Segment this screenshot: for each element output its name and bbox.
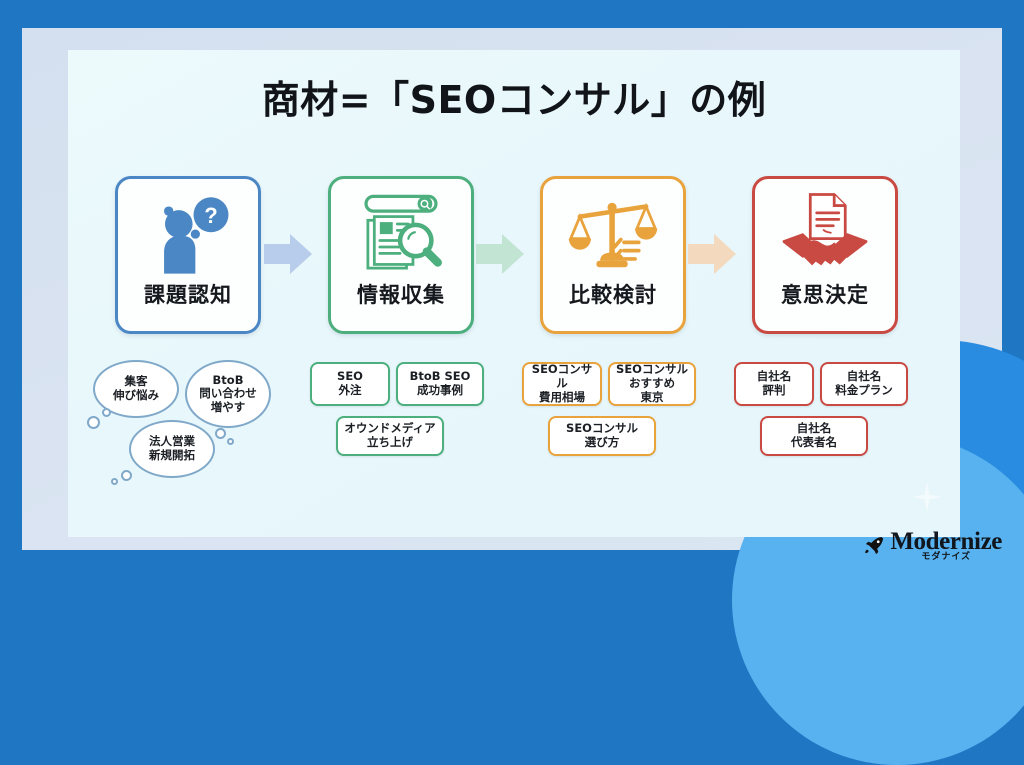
keyword-line: 選び方 [585,436,620,450]
keyword-line: 新規開拓 [149,449,195,463]
brand-logo: Modernize モダナイズ [863,529,1002,562]
keyword-line: 料金プラン [835,384,893,398]
keyword-item[interactable]: 自社名評判 [734,362,814,406]
keyword-line: 費用相場 [539,391,585,405]
keyword-line: SEOコンサル [566,422,638,436]
stage-label: 課題認知 [144,285,232,306]
thought-bubble-dot [121,470,132,481]
svg-text:?: ? [204,203,218,228]
keyword-line: 外注 [339,384,362,398]
brand-text: Modernize モダナイズ [890,529,1002,562]
keyword-item[interactable]: オウンドメディア立ち上げ [336,416,444,456]
keyword-group-1: 集客伸び悩みBtoB問い合わせ増やす法人営業新規開拓 [85,358,291,480]
keyword-line: 増やす [211,401,246,415]
keyword-line: 立ち上げ [367,436,413,450]
thought-bubble-dot [87,416,100,429]
stage-card-1[interactable]: ? 課題認知 [115,176,261,334]
keyword-line: 伸び悩み [113,389,159,403]
keyword-line: SEO [337,370,363,384]
handshake-contract-icon [779,183,871,287]
keyword-line: BtoB SEO [410,370,471,384]
keyword-line: 自社名 [797,422,832,436]
stage-label: 情報収集 [357,285,445,306]
keyword-line: おすすめ [629,377,675,391]
keyword-item[interactable]: 法人営業新規開拓 [129,420,215,478]
keyword-item[interactable]: SEOコンサルおすすめ東京 [608,362,696,406]
person-question-icon: ? [142,183,234,287]
keyword-line: 自社名 [757,370,792,384]
keyword-item[interactable]: 自社名代表者名 [760,416,868,456]
keyword-item[interactable]: 自社名料金プラン [820,362,908,406]
keyword-item[interactable]: SEOコンサル費用相場 [522,362,602,406]
keyword-line: 集客 [125,375,148,389]
thought-bubble-dot [111,478,118,485]
page-title: 商材=「SEOコンサル」の例 [68,78,960,124]
keyword-group-4: 自社名評判自社名料金プラン自社名代表者名 [722,358,928,480]
flow-arrow-2 [476,232,524,276]
brand-subtitle: モダナイズ [921,553,971,562]
balance-scale-checklist-icon [567,183,659,287]
keyword-item[interactable]: SEOコンサル選び方 [548,416,656,456]
stage-card-4[interactable]: 意思決定 [752,176,898,334]
keyword-line: BtoB [213,374,244,388]
keyword-line: 自社名 [847,370,882,384]
keyword-line: 問い合わせ [199,387,257,401]
brand-name: Modernize [890,529,1002,554]
stage-label: 意思決定 [781,285,869,306]
keyword-line: SEOコンサル [616,363,688,377]
keyword-line: 東京 [641,391,664,405]
flow-arrow-1 [264,232,312,276]
keyword-group-2: SEO外注BtoB SEO成功事例オウンドメディア立ち上げ [298,358,504,480]
keyword-item[interactable]: BtoB SEO成功事例 [396,362,484,406]
keyword-line: SEOコンサル [527,363,597,391]
flow-arrow-3 [688,232,736,276]
keyword-group-3: SEOコンサル費用相場SEOコンサルおすすめ東京SEOコンサル選び方 [510,358,716,480]
keyword-item[interactable]: BtoB問い合わせ増やす [185,360,271,428]
thought-bubble-dot [215,428,226,439]
keyword-row: 集客伸び悩みBtoB問い合わせ増やす法人営業新規開拓SEO外注BtoB SEO成… [68,358,960,483]
rocket-icon [863,535,885,557]
keyword-line: 法人営業 [149,435,195,449]
keyword-line: オウンドメディア [344,422,435,436]
stage-card-3[interactable]: 比較検討 [540,176,686,334]
stage-label: 比較検討 [569,285,657,306]
keyword-item[interactable]: SEO外注 [310,362,390,406]
keyword-line: 代表者名 [791,436,837,450]
document-search-icon [355,183,447,287]
stage-card-2[interactable]: 情報収集 [328,176,474,334]
stage-row: ? 課題認知 情報収集 [68,176,960,336]
thought-bubble-dot [227,438,234,445]
keyword-line: 評判 [763,384,786,398]
slide-root: 商材=「SEOコンサル」の例 ? 課題認知 情報収集 [0,0,1024,576]
thought-bubble-dot [102,408,111,417]
keyword-line: 成功事例 [417,384,463,398]
